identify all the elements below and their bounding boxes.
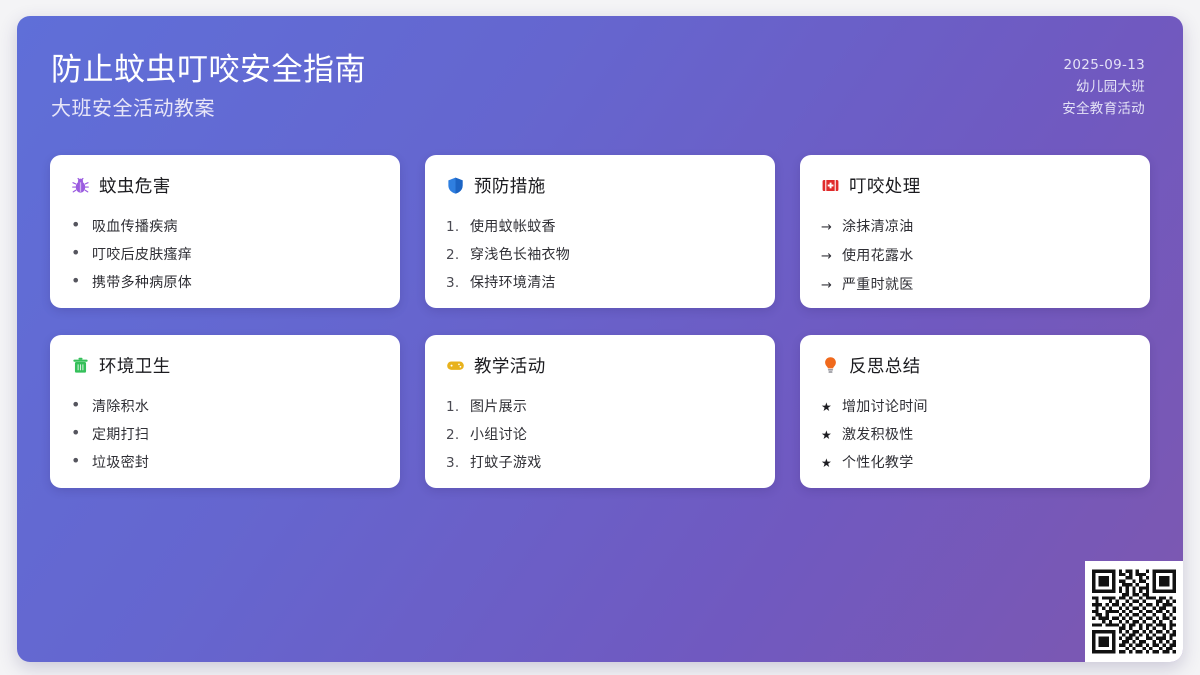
list-marker-number: 3. bbox=[446, 449, 462, 477]
title-block: 防止蚊虫叮咬安全指南 大班安全活动教案 bbox=[51, 46, 366, 124]
list-item-text: 使用花露水 bbox=[842, 242, 914, 270]
list-item-text: 叮咬后皮肤瘙痒 bbox=[92, 241, 192, 269]
list-item: ★激发积极性 bbox=[821, 421, 1130, 449]
list-item: •叮咬后皮肤瘙痒 bbox=[71, 241, 380, 269]
screenshot-root: 防止蚊虫叮咬安全指南 大班安全活动教案 2025-09-13 幼儿园大班 安全教… bbox=[0, 0, 1200, 675]
list-marker-arrow: → bbox=[821, 243, 834, 271]
list-marker-star: ★ bbox=[821, 393, 834, 421]
card-header: 环境卫生 bbox=[71, 353, 380, 378]
list-marker-number: 1. bbox=[446, 213, 462, 241]
card-list: •吸血传播疾病•叮咬后皮肤瘙痒•携带多种病原体 bbox=[71, 213, 380, 297]
content-card: 反思总结★增加讨论时间★激发积极性★个性化教学 bbox=[800, 335, 1150, 488]
list-marker-arrow: → bbox=[821, 214, 834, 242]
list-item: •携带多种病原体 bbox=[71, 269, 380, 297]
list-item-text: 严重时就医 bbox=[842, 271, 914, 299]
qr-code-image bbox=[1092, 568, 1176, 655]
card-list: •清除积水•定期打扫•垃圾密封 bbox=[71, 393, 380, 477]
list-item-text: 吸血传播疾病 bbox=[92, 213, 178, 241]
card-title: 蚊虫危害 bbox=[99, 173, 171, 198]
card-header: 教学活动 bbox=[446, 353, 755, 378]
list-item: 1.使用蚊帐蚊香 bbox=[446, 213, 755, 241]
list-item-text: 涂抹清凉油 bbox=[842, 213, 914, 241]
list-item-text: 增加讨论时间 bbox=[842, 393, 928, 421]
gamepad-icon bbox=[446, 356, 465, 375]
list-item-text: 定期打扫 bbox=[92, 421, 149, 449]
lightbulb-icon bbox=[821, 356, 840, 375]
card-grid: 蚊虫危害•吸血传播疾病•叮咬后皮肤瘙痒•携带多种病原体预防措施1.使用蚊帐蚊香2… bbox=[50, 155, 1150, 488]
first-aid-icon bbox=[821, 176, 840, 195]
page-subtitle: 大班安全活动教案 bbox=[51, 92, 366, 124]
content-card: 预防措施1.使用蚊帐蚊香2.穿浅色长袖衣物3.保持环境清洁 bbox=[425, 155, 775, 308]
content-card: 教学活动1.图片展示2.小组讨论3.打蚊子游戏 bbox=[425, 335, 775, 488]
content-card: 叮咬处理→涂抹清凉油→使用花露水→严重时就医 bbox=[800, 155, 1150, 308]
list-item-text: 垃圾密封 bbox=[92, 449, 149, 477]
list-item: ★个性化教学 bbox=[821, 449, 1130, 477]
list-item-text: 小组讨论 bbox=[470, 421, 527, 449]
content-card: 环境卫生•清除积水•定期打扫•垃圾密封 bbox=[50, 335, 400, 488]
list-item: →涂抹清凉油 bbox=[821, 213, 1130, 242]
list-item-text: 激发积极性 bbox=[842, 421, 914, 449]
list-marker-bullet: • bbox=[71, 273, 84, 289]
card-header: 反思总结 bbox=[821, 353, 1130, 378]
list-item: ★增加讨论时间 bbox=[821, 393, 1130, 421]
list-marker-bullet: • bbox=[71, 425, 84, 441]
slide-header: 防止蚊虫叮咬安全指南 大班安全活动教案 2025-09-13 幼儿园大班 安全教… bbox=[17, 16, 1183, 144]
list-item: 2.小组讨论 bbox=[446, 421, 755, 449]
card-header: 预防措施 bbox=[446, 173, 755, 198]
meta-category: 安全教育活动 bbox=[1062, 98, 1145, 120]
list-marker-star: ★ bbox=[821, 421, 834, 449]
card-list: 1.使用蚊帐蚊香2.穿浅色长袖衣物3.保持环境清洁 bbox=[446, 213, 755, 297]
list-marker-star: ★ bbox=[821, 449, 834, 477]
card-list: 1.图片展示2.小组讨论3.打蚊子游戏 bbox=[446, 393, 755, 477]
page-title: 防止蚊虫叮咬安全指南 bbox=[51, 48, 366, 92]
card-title: 反思总结 bbox=[849, 353, 921, 378]
list-item: 3.打蚊子游戏 bbox=[446, 449, 755, 477]
card-header: 叮咬处理 bbox=[821, 173, 1130, 198]
card-title: 叮咬处理 bbox=[849, 173, 921, 198]
list-marker-bullet: • bbox=[71, 217, 84, 233]
list-item-text: 穿浅色长袖衣物 bbox=[470, 241, 570, 269]
card-list: →涂抹清凉油→使用花露水→严重时就医 bbox=[821, 213, 1130, 300]
list-item-text: 图片展示 bbox=[470, 393, 527, 421]
list-marker-number: 2. bbox=[446, 421, 462, 449]
list-item: →严重时就医 bbox=[821, 271, 1130, 300]
card-list: ★增加讨论时间★激发积极性★个性化教学 bbox=[821, 393, 1130, 477]
list-item-text: 打蚊子游戏 bbox=[470, 449, 542, 477]
list-item-text: 清除积水 bbox=[92, 393, 149, 421]
list-item: •垃圾密封 bbox=[71, 449, 380, 477]
card-title: 环境卫生 bbox=[99, 353, 171, 378]
list-marker-bullet: • bbox=[71, 245, 84, 261]
meta-audience: 幼儿园大班 bbox=[1062, 76, 1145, 98]
content-card: 蚊虫危害•吸血传播疾病•叮咬后皮肤瘙痒•携带多种病原体 bbox=[50, 155, 400, 308]
card-title: 预防措施 bbox=[474, 173, 546, 198]
list-item-text: 个性化教学 bbox=[842, 449, 914, 477]
list-item: •吸血传播疾病 bbox=[71, 213, 380, 241]
shield-icon bbox=[446, 176, 465, 195]
list-item: →使用花露水 bbox=[821, 242, 1130, 271]
list-item: 3.保持环境清洁 bbox=[446, 269, 755, 297]
list-marker-bullet: • bbox=[71, 453, 84, 469]
list-item-text: 使用蚊帐蚊香 bbox=[470, 213, 556, 241]
list-marker-arrow: → bbox=[821, 272, 834, 300]
bug-icon bbox=[71, 176, 90, 195]
qr-code[interactable] bbox=[1085, 561, 1183, 662]
list-marker-number: 2. bbox=[446, 241, 462, 269]
trash-icon bbox=[71, 356, 90, 375]
list-marker-number: 3. bbox=[446, 269, 462, 297]
meta-date: 2025-09-13 bbox=[1062, 54, 1145, 76]
header-meta: 2025-09-13 幼儿园大班 安全教育活动 bbox=[1062, 46, 1145, 120]
list-item: 2.穿浅色长袖衣物 bbox=[446, 241, 755, 269]
list-item-text: 携带多种病原体 bbox=[92, 269, 192, 297]
slide: 防止蚊虫叮咬安全指南 大班安全活动教案 2025-09-13 幼儿园大班 安全教… bbox=[17, 16, 1183, 662]
list-item-text: 保持环境清洁 bbox=[470, 269, 556, 297]
list-item: 1.图片展示 bbox=[446, 393, 755, 421]
list-item: •定期打扫 bbox=[71, 421, 380, 449]
list-marker-number: 1. bbox=[446, 393, 462, 421]
card-header: 蚊虫危害 bbox=[71, 173, 380, 198]
list-item: •清除积水 bbox=[71, 393, 380, 421]
list-marker-bullet: • bbox=[71, 397, 84, 413]
card-title: 教学活动 bbox=[474, 353, 546, 378]
